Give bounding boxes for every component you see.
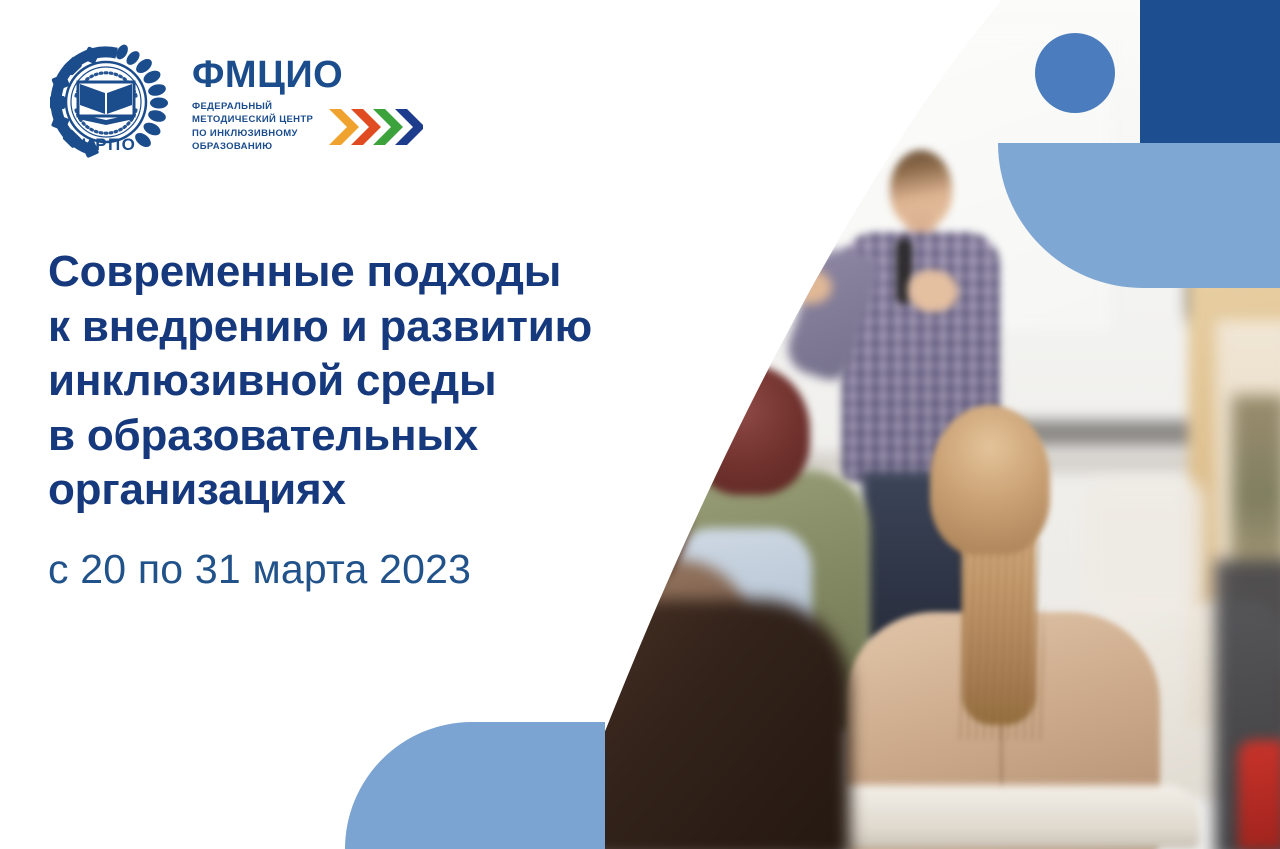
fmcio-logo: ФМЦИО ФЕДЕРАЛЬНЫЙ МЕТОДИЧЕСКИЙ ЦЕНТР ПО … [192,44,423,154]
photo-foreground-head [930,405,1050,555]
photo-presenter-hand-right [908,270,958,312]
photo-red-accent [1238,740,1280,849]
irpo-logo-icon: ИРПО [48,44,170,160]
decor-bottom-left-shape [345,722,605,849]
event-dates: с 20 по 31 марта 2023 [48,545,471,594]
page-title: Современные подходы к внедрению и развит… [48,245,688,518]
photo-presenter-hand-left [790,270,832,304]
photo-ponytail-strands [958,540,1044,740]
photo-audience-auburn-hair [690,365,810,495]
logo-lockup: ИРПО ФМЦИО ФЕДЕРАЛЬНЫЙ МЕТОДИЧЕСКИЙ ЦЕНТ… [48,44,423,160]
photo-chair-front [800,785,1200,849]
poster-root: ИРПО ФМЦИО ФЕДЕРАЛЬНЫЙ МЕТОДИЧЕСКИЙ ЦЕНТ… [0,0,1280,849]
fmcio-subtitle: ФЕДЕРАЛЬНЫЙ МЕТОДИЧЕСКИЙ ЦЕНТР ПО ИНКЛЮЗ… [192,100,313,154]
decor-blue-circle [1035,33,1115,113]
chevrons-icon [327,105,423,149]
photo-chair-middle [1085,480,1205,610]
irpo-acronym: ИРПО [82,135,137,154]
fmcio-acronym: ФМЦИО [192,56,423,94]
